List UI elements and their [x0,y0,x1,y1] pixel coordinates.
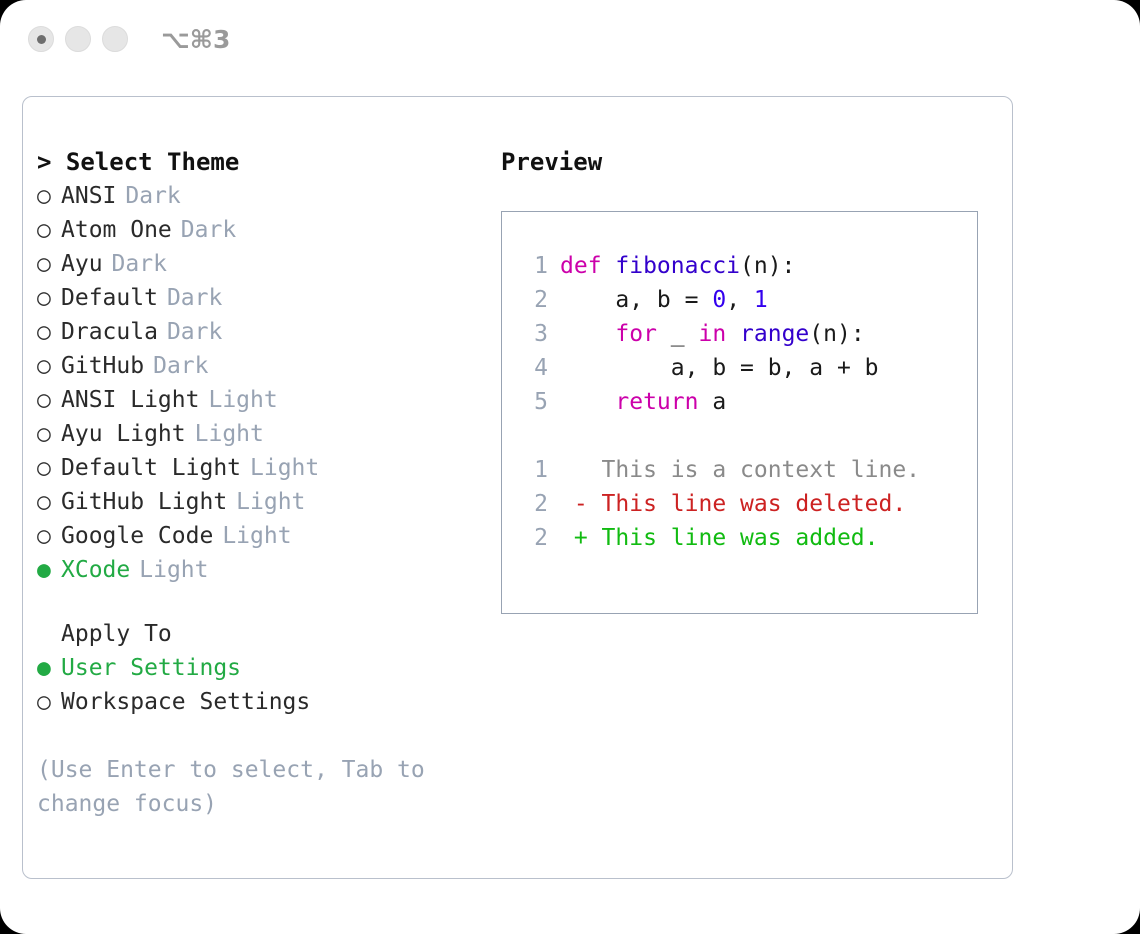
code-blank-line [520,419,977,453]
code-line: 5 return a [520,385,977,419]
code-token-num: 1 [754,287,768,313]
keyboard-shortcut-label: ⌥⌘3 [161,25,230,54]
radio-unselected-icon: ○ [37,519,61,553]
apply-to-label: User Settings [61,651,241,685]
apply-to-label: Workspace Settings [61,685,310,719]
record-dot-inner-icon [37,35,46,44]
theme-meta: Dark [167,281,222,315]
diff-line: 2 + This line was added. [520,521,977,555]
radio-selected-icon: ● [37,553,61,587]
theme-meta: Dark [112,247,167,281]
theme-meta: Light [236,485,305,519]
theme-meta: Light [195,417,264,451]
app-window: ⌥⌘3 > Select Theme ○ANSIDark○Atom OneDar… [0,0,1140,934]
apply-to-header: Apply To [37,617,487,651]
theme-item[interactable]: ○AyuDark [37,247,487,281]
preview-box: 1def fibonacci(n):2 a, b = 0, 13 for _ i… [501,211,978,614]
code-token-fn: range [740,321,809,347]
theme-label: Ayu [61,247,103,281]
theme-label: Atom One [61,213,172,247]
diff-line-number: 1 [520,453,548,487]
radio-unselected-icon: ○ [37,315,61,349]
radio-unselected-icon: ○ [37,417,61,451]
theme-label: Google Code [61,519,213,553]
theme-item[interactable]: ○Default LightLight [37,451,487,485]
theme-label: Dracula [61,315,158,349]
content-panel: > Select Theme ○ANSIDark○Atom OneDark○Ay… [22,96,1013,879]
theme-item[interactable]: ●XCodeLight [37,553,487,587]
window-controls [28,26,128,52]
code-token-kw: in [698,321,726,347]
radio-unselected-icon: ○ [37,451,61,485]
code-line-text: return a [560,385,726,419]
preview-title: Preview [501,145,1001,179]
preview-column: Preview 1def fibonacci(n):2 a, b = 0, 13… [501,145,1001,614]
code-token-pl: _ [657,321,699,347]
theme-item[interactable]: ○DraculaDark [37,315,487,349]
code-token-num: 0 [712,287,726,313]
theme-label: Ayu Light [61,417,186,451]
theme-item[interactable]: ○DefaultDark [37,281,487,315]
apply-to-list: ●User Settings○Workspace Settings [37,651,487,719]
theme-label: GitHub [61,349,144,383]
theme-item[interactable]: ○GitHubDark [37,349,487,383]
code-line: 1def fibonacci(n): [520,249,977,283]
code-token-pl: (n): [740,253,795,279]
select-theme-header: > Select Theme [37,145,487,179]
radio-selected-icon: ● [37,651,61,685]
code-token-kw: def [560,253,615,279]
code-line: 2 a, b = 0, 1 [520,283,977,317]
code-token-pl [726,321,740,347]
theme-item[interactable]: ○Atom OneDark [37,213,487,247]
code-line-number: 1 [520,249,548,283]
code-line-text: a, b = 0, 1 [560,283,768,317]
code-line: 4 a, b = b, a + b [520,351,977,385]
theme-label: ANSI [61,179,116,213]
theme-selection-column: > Select Theme ○ANSIDark○Atom OneDark○Ay… [37,145,487,821]
code-line-text: a, b = b, a + b [560,351,879,385]
theme-item[interactable]: ○GitHub LightLight [37,485,487,519]
radio-unselected-icon: ○ [37,383,61,417]
code-token-pl: a, b = b, a + b [560,355,879,381]
code-token-pl: a [698,389,726,415]
radio-unselected-icon: ○ [37,213,61,247]
radio-unselected-icon: ○ [37,179,61,213]
theme-item[interactable]: ○ANSI LightLight [37,383,487,417]
theme-item[interactable]: ○Google CodeLight [37,519,487,553]
code-sample-block: 1def fibonacci(n):2 a, b = 0, 13 for _ i… [520,249,977,419]
theme-meta: Dark [167,315,222,349]
theme-label: Default Light [61,451,241,485]
radio-unselected-icon: ○ [37,485,61,519]
code-token-pl [560,389,615,415]
code-line-number: 5 [520,385,548,419]
code-token-pl [560,321,615,347]
theme-label: XCode [61,553,130,587]
theme-meta: Light [208,383,277,417]
code-line-number: 3 [520,317,548,351]
theme-item[interactable]: ○ANSIDark [37,179,487,213]
keyboard-hint-text: (Use Enter to select, Tab to change focu… [37,753,445,821]
code-token-pl: (n): [809,321,864,347]
radio-unselected-icon: ○ [37,281,61,315]
diff-line-number: 2 [520,521,548,555]
theme-meta: Dark [125,179,180,213]
code-line-number: 4 [520,351,548,385]
theme-item[interactable]: ○Ayu LightLight [37,417,487,451]
theme-meta: Light [222,519,291,553]
code-line: 3 for _ in range(n): [520,317,977,351]
theme-list: ○ANSIDark○Atom OneDark○AyuDark○DefaultDa… [37,179,487,587]
theme-label: GitHub Light [61,485,227,519]
radio-unselected-icon: ○ [37,247,61,281]
code-line-number: 2 [520,283,548,317]
apply-to-item[interactable]: ○Workspace Settings [37,685,487,719]
code-line-text: for _ in range(n): [560,317,865,351]
diff-line-number: 2 [520,487,548,521]
theme-meta: Dark [181,213,236,247]
code-token-kw: for [615,321,657,347]
plain-dot-icon-3[interactable] [102,26,128,52]
diff-line-text-add: + This line was added. [560,521,879,555]
theme-meta: Dark [153,349,208,383]
theme-meta: Light [250,451,319,485]
diff-line: 2 - This line was deleted. [520,487,977,521]
theme-label: Default [61,281,158,315]
code-token-kw: return [615,389,698,415]
plain-dot-icon-2[interactable] [65,26,91,52]
diff-line-text-del: - This line was deleted. [560,487,906,521]
apply-to-item[interactable]: ●User Settings [37,651,487,685]
diff-line: 1 This is a context line. [520,453,977,487]
code-token-pl: a, b = [560,287,712,313]
theme-meta: Light [139,553,208,587]
code-token-pl: , [726,287,754,313]
code-line-text: def fibonacci(n): [560,249,795,283]
code-token-fn: fibonacci [615,253,740,279]
theme-label: ANSI Light [61,383,199,417]
diff-line-text-ctx: This is a context line. [560,453,920,487]
radio-unselected-icon: ○ [37,685,61,719]
window-titlebar: ⌥⌘3 [0,0,1140,78]
radio-unselected-icon: ○ [37,349,61,383]
diff-sample-block: 1 This is a context line.2 - This line w… [520,453,977,555]
record-dot-icon[interactable] [28,26,54,52]
